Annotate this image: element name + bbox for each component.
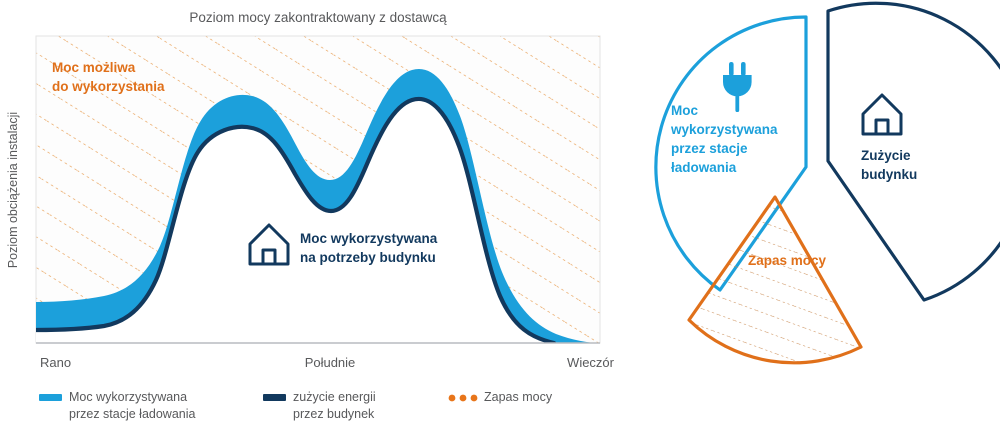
pie-label-building-line1: Zużycie [861, 148, 911, 163]
annotation-available-power-line2: do wykorzystania [52, 79, 165, 94]
legend-item-reserve[interactable]: Zapas mocy [449, 390, 553, 404]
legend-item-charging[interactable]: Moc wykorzystywana przez stacje ładowani… [39, 390, 196, 421]
legend-label-reserve-line1: Zapas mocy [484, 390, 553, 404]
infographic-root: Poziom mocy zakontraktowany z dostawcą P… [0, 0, 1000, 423]
pie-label-charging-line4: ładowania [671, 160, 737, 175]
annotation-available-power-line1: Moc możliwa [52, 60, 136, 75]
legend-swatch-reserve-dots [449, 395, 478, 402]
legend-label-charging-line2: przez stacje ładowania [69, 407, 196, 421]
pie-chart: Moc wykorzystywana przez stacje ładowani… [656, 3, 1000, 363]
x-tick-noon: Południe [305, 355, 356, 370]
pie-label-charging-line1: Moc [671, 103, 698, 118]
chart-title: Poziom mocy zakontraktowany z dostawcą [189, 10, 447, 25]
pie-label-charging-line3: przez stacje [671, 141, 748, 156]
pie-label-building-line2: budynku [861, 167, 917, 182]
legend-label-charging-line1: Moc wykorzystywana [69, 390, 187, 404]
area-chart: Poziom mocy zakontraktowany z dostawcą P… [6, 10, 615, 370]
legend-label-building-line1: zużycie energii [293, 390, 376, 404]
x-tick-morning: Rano [40, 355, 71, 370]
x-tick-evening: Wieczór [567, 355, 615, 370]
legend-item-building[interactable]: zużycie energii przez budynek [263, 390, 376, 421]
annotation-building-power-line1: Moc wykorzystywana [300, 231, 438, 246]
legend-swatch-building [263, 394, 286, 401]
annotation-building-power-line2: na potrzeby budynku [300, 250, 436, 265]
legend-swatch-charging [39, 394, 62, 401]
legend-label-building-line2: przez budynek [293, 407, 375, 421]
pie-label-reserve: Zapas mocy [748, 253, 827, 268]
pie-label-charging-line2: wykorzystywana [670, 122, 778, 137]
y-axis-label: Poziom obciążenia instalacji [6, 112, 20, 268]
chart-legend: Moc wykorzystywana przez stacje ładowani… [39, 390, 553, 421]
pie-slice-building[interactable] [828, 3, 1000, 300]
